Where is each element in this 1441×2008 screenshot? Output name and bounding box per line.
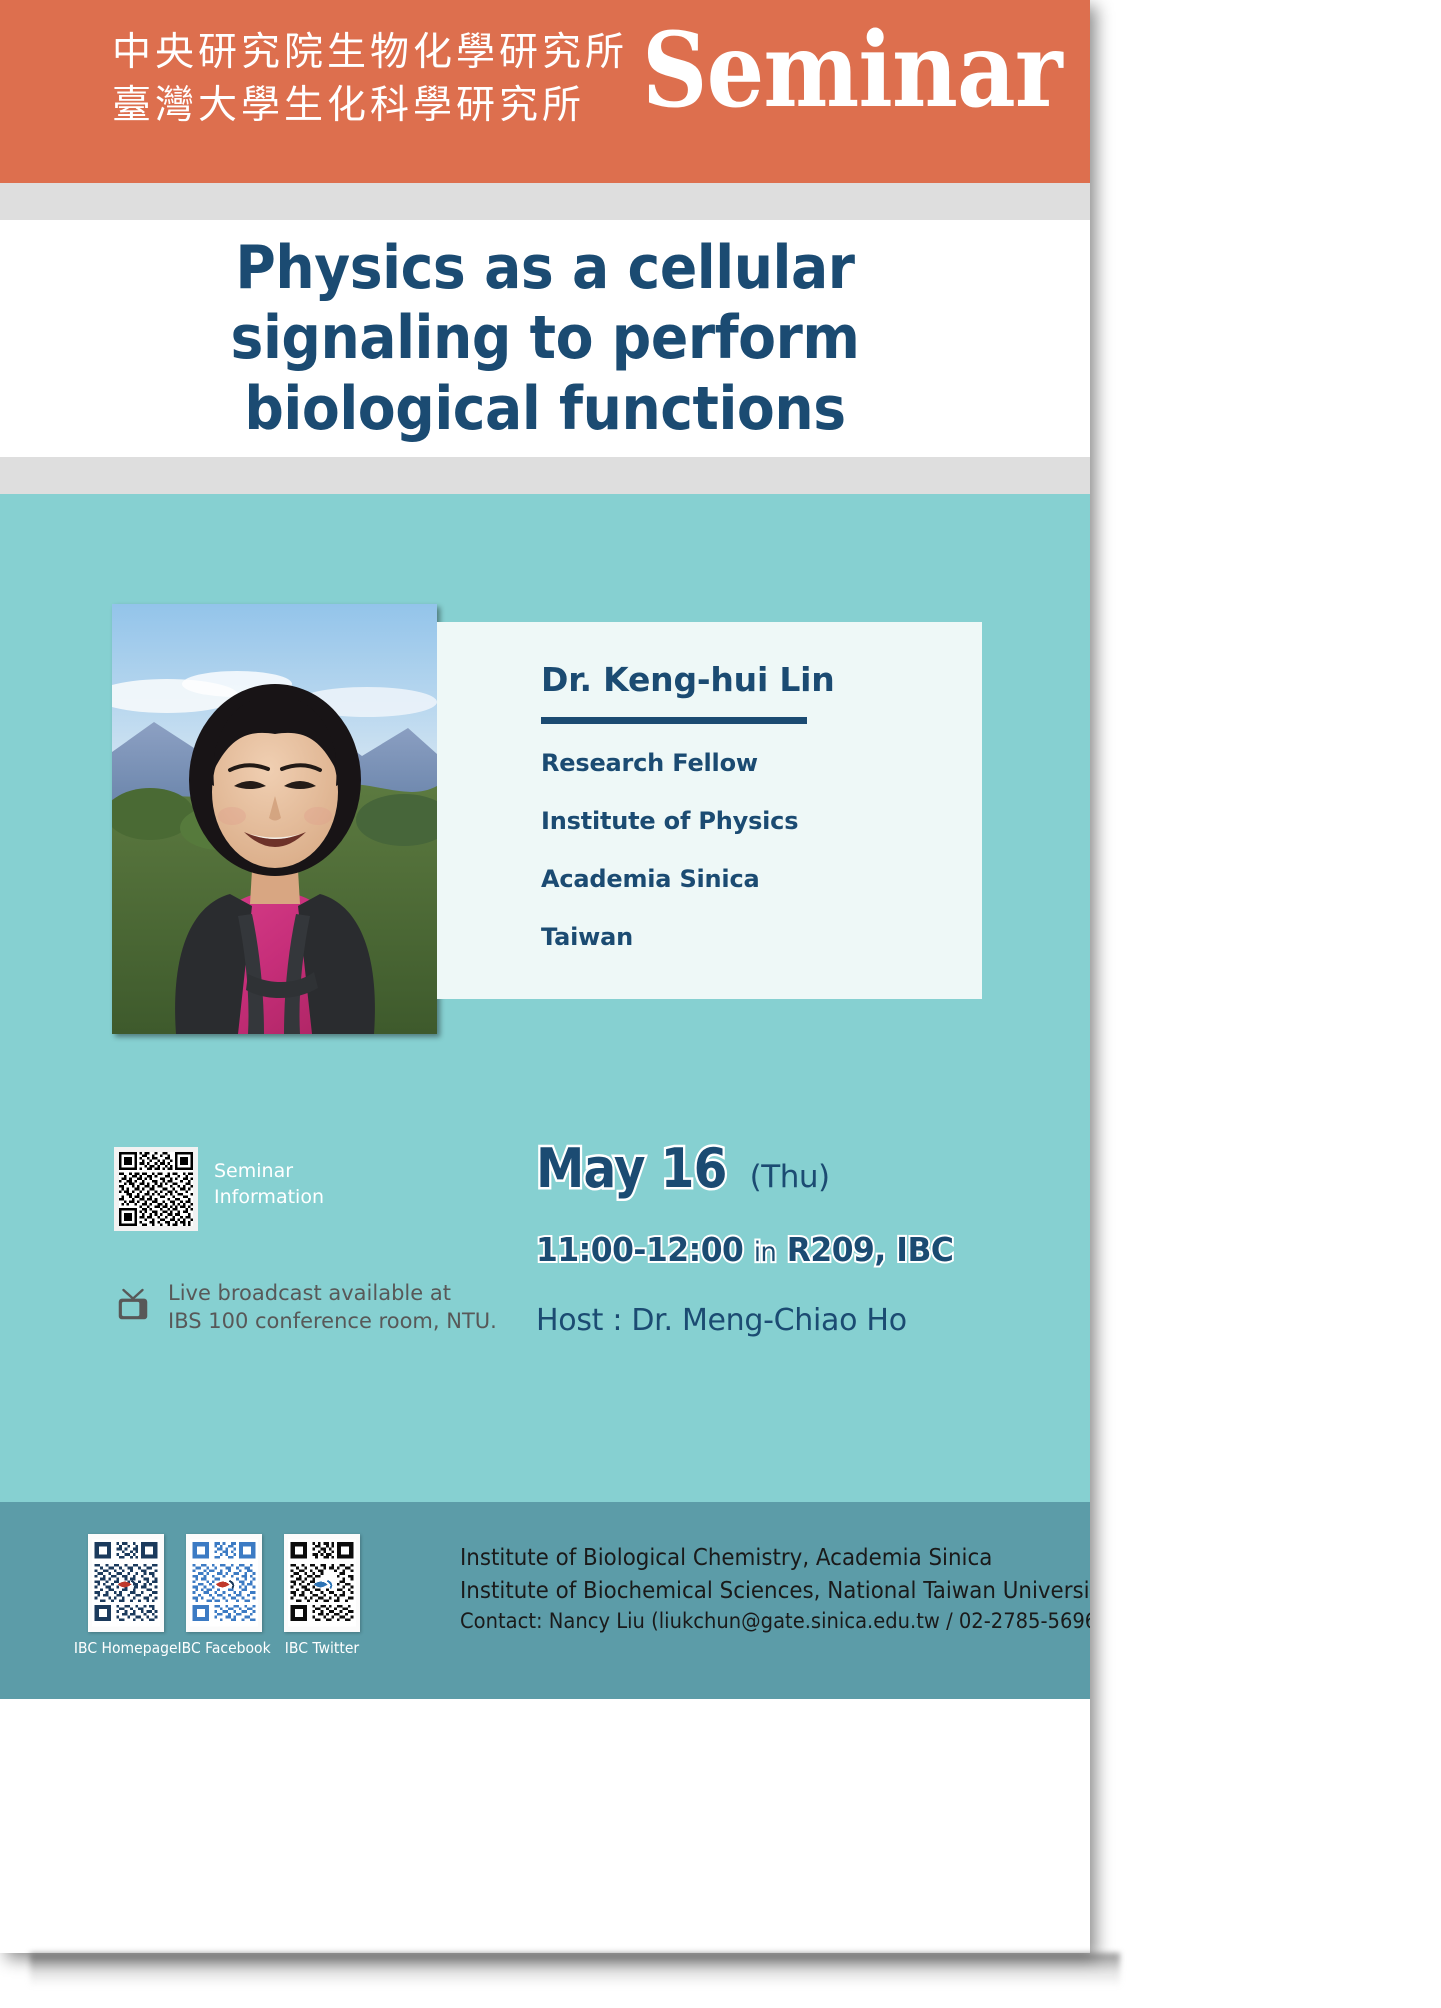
seminar-host: Host : Dr. Meng-Chiao Ho (536, 1303, 1056, 1338)
speaker-photo (112, 604, 437, 1034)
seminar-info-label-line-2: Information (214, 1185, 324, 1211)
footer-qr-group: IBC Homepage (88, 1534, 360, 1657)
header-band: 中央研究院生物化學研究所 臺灣大學生化科學研究所 Seminar (0, 0, 1090, 183)
body-band: Dr. Keng-hui Lin Research Fellow Institu… (0, 494, 1090, 1502)
seminar-room: R209, IBC (787, 1230, 954, 1269)
footer-band: IBC Homepage (0, 1502, 1090, 1699)
qr-code-twitter-glyph (288, 1539, 356, 1627)
footer-qr-facebook[interactable]: IBC Facebook (186, 1534, 262, 1657)
live-broadcast-block: Live broadcast available at IBS 100 conf… (114, 1280, 497, 1335)
seminar-information-block[interactable]: Seminar Information (114, 1147, 324, 1231)
seminar-date-line: May 16(Thu) (536, 1142, 1056, 1196)
organization-names: 中央研究院生物化學研究所 臺灣大學生化科學研究所 (112, 27, 628, 132)
seminar-date: May 16 (536, 1142, 727, 1196)
speaker-affiliation-0: Research Fellow (541, 749, 982, 777)
speaker-name: Dr. Keng-hui Lin (541, 660, 982, 699)
qr-code-icon[interactable] (88, 1534, 164, 1632)
seminar-weekday: (Thu) (750, 1159, 830, 1195)
qr-code-icon[interactable] (284, 1534, 360, 1632)
footer-qr-twitter[interactable]: IBC Twitter (284, 1534, 360, 1657)
speaker-info-panel: Dr. Keng-hui Lin Research Fellow Institu… (437, 622, 982, 999)
footer-qr-homepage[interactable]: IBC Homepage (88, 1534, 164, 1657)
speaker-affiliation-3: Taiwan (541, 923, 982, 951)
footer-qr-caption: IBC Facebook (177, 1639, 270, 1657)
poster-drop-shadow (30, 1953, 1120, 1987)
when-where-block: May 16(Thu) 11:00-12:00 in R209, IBC Hos… (536, 1142, 1056, 1338)
seminar-time-in-word: in (754, 1237, 776, 1268)
seminar-wordmark: Seminar (642, 19, 1062, 122)
qr-code-icon[interactable] (114, 1147, 198, 1231)
live-broadcast-line-2: IBS 100 conference room, NTU. (168, 1308, 497, 1336)
seminar-info-label-line-1: Seminar (214, 1159, 324, 1185)
divider-grey-top (0, 183, 1090, 220)
footer-contact-block: Institute of Biological Chemistry, Acade… (460, 1542, 1090, 1637)
footer-institute-line-1: Institute of Biological Chemistry, Acade… (460, 1542, 1090, 1575)
seminar-information-label: Seminar Information (214, 1159, 324, 1210)
seminar-poster: 中央研究院生物化學研究所 臺灣大學生化科學研究所 Seminar Physics… (0, 0, 1090, 1953)
speaker-name-underline (541, 717, 807, 724)
org-name-line-2: 臺灣大學生化科學研究所 (112, 80, 628, 133)
footer-content: IBC Homepage (88, 1534, 1090, 1657)
live-broadcast-line-1: Live broadcast available at (168, 1280, 497, 1308)
footer-qr-caption: IBC Twitter (285, 1639, 359, 1657)
speaker-affiliation-2: Academia Sinica (541, 865, 982, 893)
header-content: 中央研究院生物化學研究所 臺灣大學生化科學研究所 Seminar (112, 27, 1090, 132)
speaker-affiliation-1: Institute of Physics (541, 807, 982, 835)
org-name-line-1: 中央研究院生物化學研究所 (112, 27, 628, 80)
qr-code-seminar-glyph (119, 1152, 193, 1226)
qr-code-icon[interactable] (186, 1534, 262, 1632)
speaker-portrait-image (112, 604, 437, 1034)
footer-institute-line-2: Institute of Biochemical Sciences, Natio… (460, 1575, 1090, 1608)
seminar-time-line: 11:00-12:00 in R209, IBC (536, 1230, 953, 1269)
poster-root: 中央研究院生物化學研究所 臺灣大學生化科學研究所 Seminar Physics… (0, 0, 1441, 2008)
qr-code-homepage-glyph (92, 1539, 160, 1627)
live-broadcast-text: Live broadcast available at IBS 100 conf… (168, 1280, 497, 1335)
footer-contact-line: Contact: Nancy Liu (liukchun@gate.sinica… (460, 1607, 1090, 1637)
television-icon (114, 1286, 152, 1324)
seminar-time: 11:00-12:00 (536, 1230, 743, 1269)
footer-qr-caption: IBC Homepage (74, 1639, 178, 1657)
title-block: Physics as a cellular signaling to perfo… (0, 220, 1090, 457)
seminar-title: Physics as a cellular signaling to perfo… (88, 233, 1002, 444)
qr-code-facebook-glyph (190, 1539, 258, 1627)
divider-grey-bottom (0, 457, 1090, 494)
